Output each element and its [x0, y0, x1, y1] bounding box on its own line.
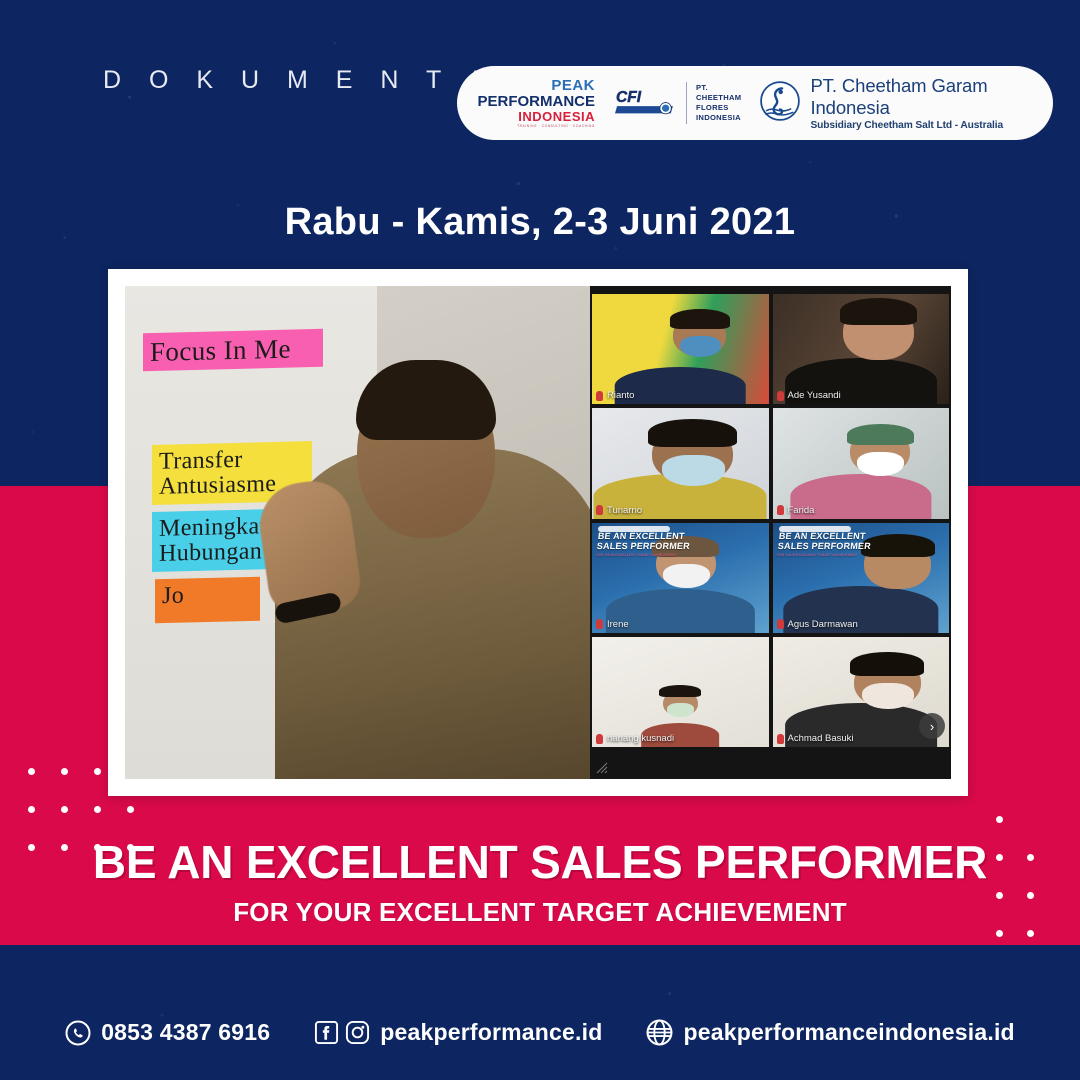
social-contact[interactable]: peakperformance.id [314, 1019, 602, 1046]
participant-name: nanang kusnadi [607, 733, 674, 744]
participant-hair [840, 298, 918, 324]
website-contact[interactable]: peakperformanceindonesia.id [646, 1019, 1014, 1046]
virtual-bg-line1: BE AN EXCELLENT [778, 532, 872, 542]
participant-tile[interactable]: Rianto [592, 294, 769, 404]
virtual-bg-line1: BE AN EXCELLENT [597, 532, 691, 542]
cgi-title: PT. Cheetham Garam Indonesia [810, 75, 1031, 119]
page-subtitle: FOR YOUR EXCELLENT TARGET ACHIEVEMENT [0, 897, 1080, 928]
facebook-icon [314, 1020, 339, 1045]
participant-name-label: Irene [596, 619, 629, 630]
cfi-line4: INDONESIA [696, 113, 741, 123]
mic-muted-icon [596, 619, 603, 629]
cfi-line1: PT. [696, 83, 741, 93]
participant-name-label: Ade Yusandi [777, 390, 841, 401]
speaker-hair [356, 360, 496, 440]
participant-tile[interactable]: nanang kusnadi [592, 637, 769, 747]
virtual-bg-line3: FOR YOUR EXCELLENT TARGET ACHIEVEMENT [776, 553, 869, 557]
page-title: BE AN EXCELLENT SALES PERFORMER [0, 838, 1080, 887]
participant-name: Rianto [607, 390, 634, 401]
sponsor-logo-bar: PEAK PERFORMANCE INDONESIA TRAINING · CO… [457, 66, 1053, 140]
cfi-logo: CFI PT. CHEETHAM FLORES INDONESIA [615, 82, 741, 124]
peak-logo-line1: PEAK [551, 78, 595, 93]
headline-block: BE AN EXCELLENT SALES PERFORMER FOR YOUR… [0, 838, 1080, 928]
participant-name-label: Tunarno [596, 505, 642, 516]
participant-name: Ade Yusandi [788, 390, 841, 401]
cheetham-seahorse-icon [759, 80, 801, 127]
participant-name-label: Rianto [596, 390, 634, 401]
virtual-bg-line2: SALES PERFORMER [777, 541, 871, 551]
sticky-note-1: Focus In Me [143, 329, 323, 372]
participant-name-label: Agus Darmawan [777, 619, 858, 630]
poster-root: D O K U M E N T A S I PEAK PERFORMANCE I… [0, 0, 1080, 1080]
whatsapp-number: 0853 4387 6916 [101, 1019, 270, 1046]
participant-grid: RiantoAde YusandiTunarnoFaridaBE AN EXCE… [590, 286, 951, 779]
cfi-mark-icon: CFI [615, 86, 677, 121]
participant-name-label: Farida [777, 505, 815, 516]
peak-logo-tagline: TRAINING · CONSULTING · COACHING [517, 125, 595, 128]
participant-tiles: RiantoAde YusandiTunarnoFaridaBE AN EXCE… [592, 294, 949, 747]
participant-face-mask [662, 455, 725, 486]
mic-muted-icon [596, 391, 603, 401]
peak-logo-line3: INDONESIA [518, 110, 595, 123]
sticky-note-4: Jo [155, 577, 260, 624]
cgi-subtitle: Subsidiary Cheetham Salt Ltd - Australia [810, 120, 1031, 131]
resize-grabber-icon[interactable] [596, 761, 608, 773]
whatsapp-icon [65, 1020, 91, 1046]
participant-face-mask [663, 564, 710, 588]
participant-hair [847, 424, 914, 445]
svg-text:CFI: CFI [616, 89, 642, 106]
participant-tile[interactable]: Farida [773, 408, 950, 518]
next-page-icon[interactable]: › [919, 713, 945, 739]
participant-name: Irene [607, 619, 629, 630]
participant-torso [615, 367, 746, 404]
whatsapp-contact[interactable]: 0853 4387 6916 [65, 1019, 270, 1046]
mic-muted-icon [596, 734, 603, 744]
speaker-video-panel: Focus In Me Transfer Antusiasme Meningka… [125, 286, 590, 779]
social-icons [314, 1020, 370, 1045]
instagram-icon [345, 1020, 370, 1045]
peak-performance-logo: PEAK PERFORMANCE INDONESIA TRAINING · CO… [479, 78, 601, 128]
participant-tile[interactable]: Ade Yusandi [773, 294, 950, 404]
event-date: Rabu - Kamis, 2-3 Juni 2021 [0, 201, 1080, 244]
cheetham-garam-text: PT. Cheetham Garam Indonesia Subsidiary … [810, 75, 1031, 131]
virtual-bg-banner: BE AN EXCELLENTSALES PERFORMERFOR YOUR E… [596, 532, 692, 557]
virtual-bg-banner: BE AN EXCELLENTSALES PERFORMERFOR YOUR E… [776, 532, 872, 557]
cfi-line3: FLORES [696, 103, 741, 113]
participant-name: Agus Darmawan [788, 619, 858, 630]
mic-muted-icon [777, 619, 784, 629]
website-url: peakperformanceindonesia.id [683, 1019, 1014, 1046]
participant-name-label: Achmad Basuki [777, 733, 854, 744]
cfi-line2: CHEETHAM [696, 93, 741, 103]
mic-muted-icon [777, 505, 784, 515]
cheetham-garam-logo: PT. Cheetham Garam Indonesia Subsidiary … [759, 75, 1031, 131]
participant-hair [861, 534, 935, 557]
mic-muted-icon [596, 505, 603, 515]
participant-hair [850, 652, 924, 675]
social-handle: peakperformance.id [380, 1019, 602, 1046]
logo-divider [686, 82, 687, 124]
participant-name: Farida [788, 505, 815, 516]
zoom-meeting-screenshot: Focus In Me Transfer Antusiasme Meningka… [125, 286, 951, 779]
peak-logo-line2: PERFORMANCE [477, 94, 595, 109]
mic-muted-icon [777, 391, 784, 401]
cfi-logo-text: PT. CHEETHAM FLORES INDONESIA [696, 83, 741, 123]
participant-tile[interactable]: BE AN EXCELLENTSALES PERFORMERFOR YOUR E… [592, 523, 769, 633]
participant-name: Achmad Basuki [788, 733, 854, 744]
photo-frame: Focus In Me Transfer Antusiasme Meningka… [108, 269, 968, 796]
participant-hair [670, 309, 730, 328]
participant-tile[interactable]: BE AN EXCELLENTSALES PERFORMERFOR YOUR E… [773, 523, 950, 633]
footer-contacts: 0853 4387 6916 peakperfo [0, 1019, 1080, 1046]
mic-muted-icon [777, 734, 784, 744]
participant-tile[interactable]: Tunarno [592, 408, 769, 518]
participant-name-label: nanang kusnadi [596, 733, 674, 744]
participant-hair [659, 685, 701, 697]
globe-icon [646, 1019, 673, 1046]
participant-hair [648, 419, 736, 446]
participant-name: Tunarno [607, 505, 642, 516]
virtual-bg-line3: FOR YOUR EXCELLENT TARGET ACHIEVEMENT [596, 553, 689, 557]
virtual-bg-line2: SALES PERFORMER [596, 541, 690, 551]
